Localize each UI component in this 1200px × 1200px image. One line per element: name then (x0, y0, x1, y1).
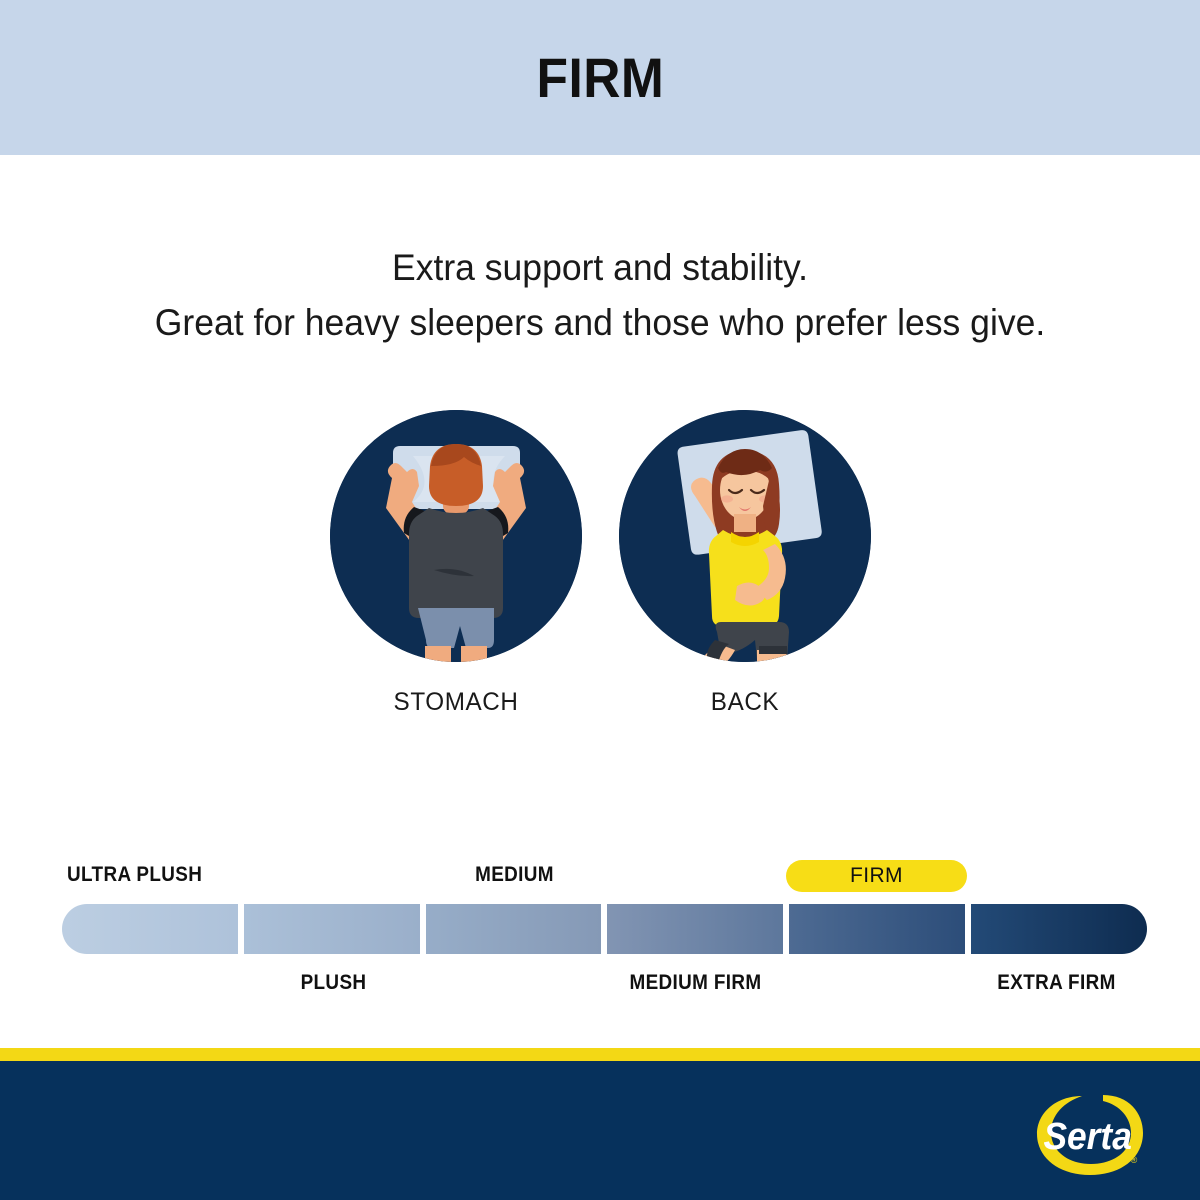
firmness-label-plush[interactable]: PLUSH (252, 968, 415, 998)
firmness-segment-medium[interactable] (426, 904, 602, 954)
subtitle-block: Extra support and stability. Great for h… (24, 240, 1176, 350)
subtitle-line-1: Extra support and stability. (24, 240, 1176, 295)
registered-mark: ® (1131, 1155, 1138, 1165)
firmness-label-ultra-plush[interactable]: ULTRA PLUSH (67, 860, 230, 890)
firmness-segment-plush[interactable] (244, 904, 420, 954)
firmness-label-firm-selected[interactable]: FIRM (786, 860, 967, 892)
firmness-segment-medium-firm[interactable] (607, 904, 783, 954)
sleep-position-stomach: STOMACH (326, 410, 586, 717)
firmness-label-medium-firm[interactable]: MEDIUM FIRM (614, 968, 777, 998)
header-banner: FIRM (0, 0, 1200, 155)
back-sleeper-icon (619, 410, 871, 662)
firmness-scale-bottom-labels: PLUSH MEDIUM FIRM EXTRA FIRM (62, 968, 1147, 1004)
serta-logo-text: Serta (1043, 1115, 1131, 1157)
firmness-infographic: FIRM Extra support and stability. Great … (0, 0, 1200, 1200)
firmness-segment-extra-firm[interactable] (971, 904, 1147, 954)
sleep-position-illustrations: STOMACH (0, 410, 1200, 750)
footer-bar: Serta ® (0, 1061, 1200, 1200)
sleep-position-label: BACK (619, 688, 871, 717)
serta-logo[interactable]: Serta ® (1030, 1089, 1148, 1181)
sleep-position-label: STOMACH (330, 688, 582, 717)
subtitle-line-2: Great for heavy sleepers and those who p… (24, 295, 1176, 350)
page-title: FIRM (536, 45, 664, 110)
firmness-scale: ULTRA PLUSH MEDIUM FIRM PLUSH MEDIUM FIR… (62, 860, 1147, 1010)
firmness-scale-top-labels: ULTRA PLUSH MEDIUM FIRM (62, 860, 1147, 896)
firmness-segment-firm[interactable] (789, 904, 965, 954)
sleep-position-back: BACK (615, 410, 875, 717)
firmness-label-extra-firm[interactable]: EXTRA FIRM (975, 968, 1138, 998)
firmness-segment-ultra-plush[interactable] (62, 904, 238, 954)
stomach-sleeper-icon (330, 410, 582, 662)
footer-accent-stripe (0, 1048, 1200, 1061)
firmness-scale-bar[interactable] (62, 904, 1147, 954)
firmness-label-medium[interactable]: MEDIUM (433, 860, 596, 890)
